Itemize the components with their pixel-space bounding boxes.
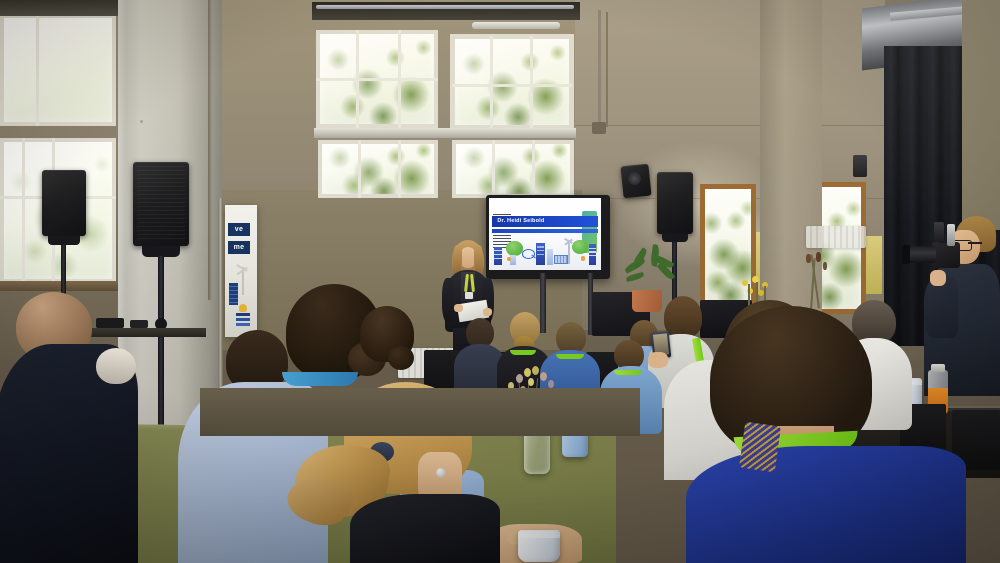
window-mullion xyxy=(358,140,361,198)
foreground-torso xyxy=(350,494,500,563)
pillar-conduit xyxy=(208,0,212,300)
pa-speaker-right xyxy=(657,172,693,234)
audience-head xyxy=(96,348,136,384)
slide-title-bar: Dr. Heidi Seibold xyxy=(492,216,597,227)
banner-chip-bottom: me xyxy=(228,241,250,254)
earring xyxy=(436,468,446,478)
dslr-camera-lens xyxy=(906,246,936,263)
window-center-rail xyxy=(316,5,574,9)
audience-white-hair xyxy=(96,348,136,396)
banner-chip-top: ve xyxy=(228,223,250,236)
patterned-collar xyxy=(739,422,781,473)
dslr-camera-lens-hood xyxy=(902,245,910,264)
banner-chip-bottom-text: me xyxy=(234,244,245,251)
scene-title: Conference presentation in an industrial… xyxy=(0,0,1,1)
banner-chip-top-text: ve xyxy=(235,226,243,233)
presenter-hand xyxy=(483,308,492,316)
presenter-hand xyxy=(454,304,463,312)
photographer-glasses-temple xyxy=(968,242,982,244)
dslr-camera-mic xyxy=(947,224,955,246)
floor xyxy=(200,388,640,436)
window-mullion xyxy=(532,140,535,198)
pa-speaker-center-grille xyxy=(137,166,185,242)
window-left-lintel xyxy=(0,0,120,16)
dslr-camera-body xyxy=(932,242,960,268)
window-left-sill xyxy=(0,281,120,291)
cup-held-front xyxy=(518,530,560,562)
roll-up-banner: ve me xyxy=(225,205,257,337)
slide-title: Dr. Heidi Seibold xyxy=(492,218,544,224)
dslr-camera-flash-bracket xyxy=(934,222,944,242)
window-mullion xyxy=(36,14,39,126)
photograph-scene: Dr. Heidi Seibold xyxy=(0,0,1000,563)
presenter-badge xyxy=(465,292,473,299)
window-center-lower-left-frame xyxy=(318,140,438,198)
far-right-wall xyxy=(962,0,1000,230)
foreground-bald-man xyxy=(0,292,138,563)
conduit-junction xyxy=(592,122,606,134)
window-center-upper-right-frame xyxy=(450,34,574,130)
window-mullion xyxy=(492,140,495,198)
audience-lanyard xyxy=(614,370,642,375)
conduit-pipe xyxy=(606,12,608,127)
pa-speaker-right-bracket xyxy=(662,234,688,242)
audience-lanyard xyxy=(556,354,584,359)
wall-box-fixture xyxy=(853,155,867,177)
wall-radiator-right xyxy=(806,226,866,248)
banner-solar-panel xyxy=(229,283,238,305)
window-mullion xyxy=(490,36,493,128)
window-mullion xyxy=(22,138,25,283)
banner-stripe xyxy=(236,323,250,326)
window-mullion xyxy=(530,36,533,128)
window-center-transom xyxy=(314,128,576,138)
conduit-pipe xyxy=(598,10,601,130)
window-mullion xyxy=(452,84,572,87)
banner-lamp-icon xyxy=(239,304,247,312)
audience-hair-bun xyxy=(388,346,414,370)
audience-lanyard xyxy=(510,350,536,355)
foreground-torso xyxy=(686,446,966,563)
slide-subtitle-bar xyxy=(492,229,597,233)
banner-stripe xyxy=(236,313,250,316)
window-mullion xyxy=(316,78,438,81)
banner-stripe xyxy=(236,318,250,321)
presentation-display: Dr. Heidi Seibold xyxy=(486,195,610,279)
slide-solar-panel xyxy=(554,255,568,265)
photographer-hand xyxy=(930,270,946,286)
pa-speaker-left xyxy=(42,170,86,236)
window-left-upper-frame xyxy=(0,14,116,126)
window-mullion xyxy=(398,140,401,198)
presenter-arm-left xyxy=(442,278,454,322)
window-center-lower-right-frame xyxy=(452,140,574,198)
foreground-audience-blue xyxy=(686,306,966,563)
window-closer-arm xyxy=(472,22,560,29)
pa-speaker-left-bracket xyxy=(48,236,80,245)
slide-artwork xyxy=(492,236,597,268)
